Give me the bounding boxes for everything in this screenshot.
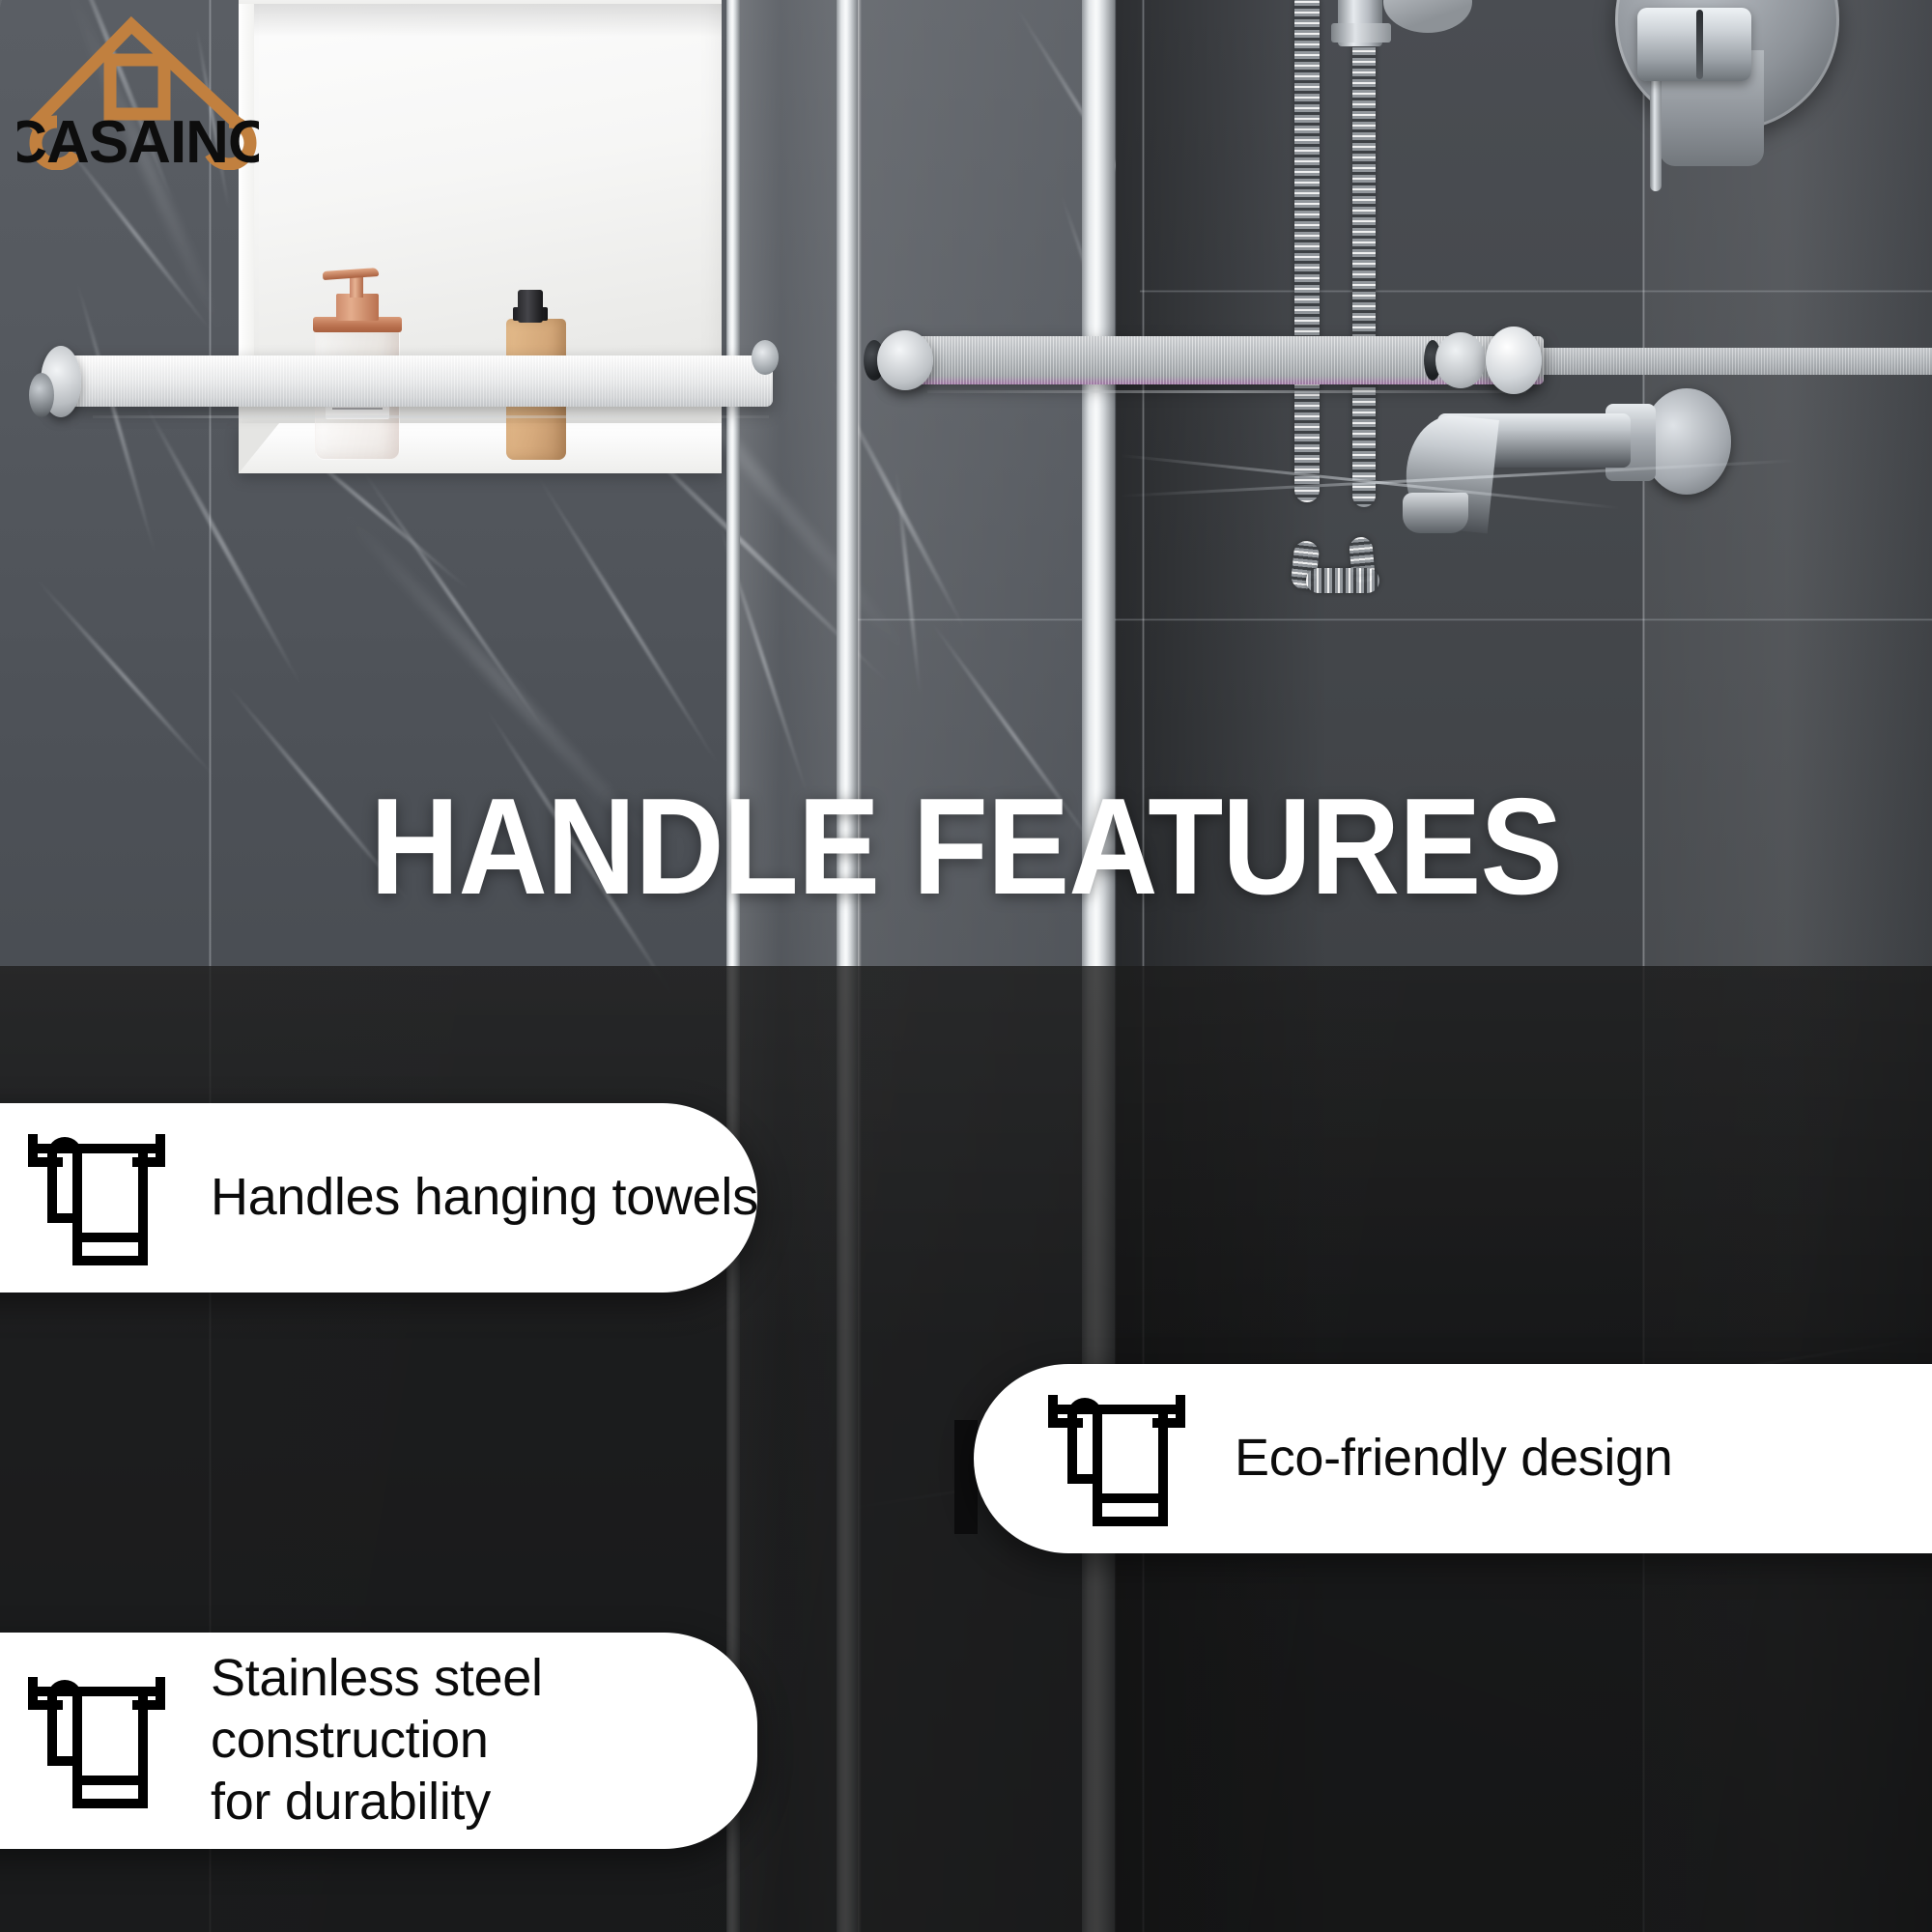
amber-bottle-cap bbox=[518, 290, 543, 323]
towel-bar-handle-right-extension bbox=[1532, 348, 1932, 375]
svg-text:CASAINC: CASAINC bbox=[17, 109, 259, 170]
towel-bar-mount-left-base bbox=[29, 373, 54, 417]
feature-card-label: Handles hanging towels bbox=[211, 1167, 758, 1229]
towel-bar-mount-right-b bbox=[1435, 332, 1486, 388]
casainc-logo: CASAINC bbox=[17, 8, 259, 170]
soap-dispenser-neck bbox=[336, 294, 379, 321]
shower-valve-knob bbox=[1637, 8, 1751, 81]
feature-card-label-line-1: Stainless steel construction bbox=[211, 1648, 757, 1771]
towel-on-rail-icon bbox=[23, 1668, 170, 1813]
feature-card-label: Eco-friendly design bbox=[1235, 1428, 1673, 1490]
towel-bar-handle-left bbox=[60, 355, 773, 407]
shower-hose-loop bbox=[1306, 568, 1379, 593]
towel-on-rail-icon bbox=[23, 1125, 170, 1270]
niche-top-shadow bbox=[254, 4, 722, 37]
niche-top-frame bbox=[239, 0, 722, 4]
hand-shower-cuff bbox=[1331, 23, 1391, 43]
shower-hose-icon bbox=[1352, 29, 1376, 507]
tile-grout-line bbox=[1140, 290, 1932, 293]
shower-valve-stem bbox=[1650, 75, 1662, 191]
towel-bar-right-end-cap bbox=[1486, 327, 1542, 394]
shower-hose-icon bbox=[1294, 0, 1320, 502]
feature-card-label: Stainless steel construction for durabil… bbox=[211, 1648, 757, 1833]
feature-card-eco-friendly-design[interactable]: Eco-friendly design bbox=[974, 1364, 1932, 1553]
towel-bar-left-end-cap bbox=[752, 340, 779, 375]
feature-card-handles-hanging-towels[interactable]: Handles hanging towels bbox=[0, 1103, 757, 1293]
feature-card-label-line-2: for durability bbox=[211, 1772, 757, 1833]
towel-bar-mount-right-a bbox=[877, 330, 933, 390]
tub-spout-tip bbox=[1403, 493, 1468, 533]
feature-card-stainless-steel-construction[interactable]: Stainless steel construction for durabil… bbox=[0, 1633, 757, 1849]
niche-shelf-perspective bbox=[239, 423, 279, 473]
towel-on-rail-icon bbox=[1043, 1386, 1190, 1531]
product-feature-infographic: CASAINC HANDLE FEATURES bbox=[0, 0, 1932, 1932]
handle-strut-shadow bbox=[927, 390, 1526, 393]
page-title: HANDLE FEATURES bbox=[97, 779, 1835, 916]
feature-card-2-edge-tab bbox=[954, 1420, 978, 1534]
handle-strut-shadow bbox=[93, 415, 769, 418]
